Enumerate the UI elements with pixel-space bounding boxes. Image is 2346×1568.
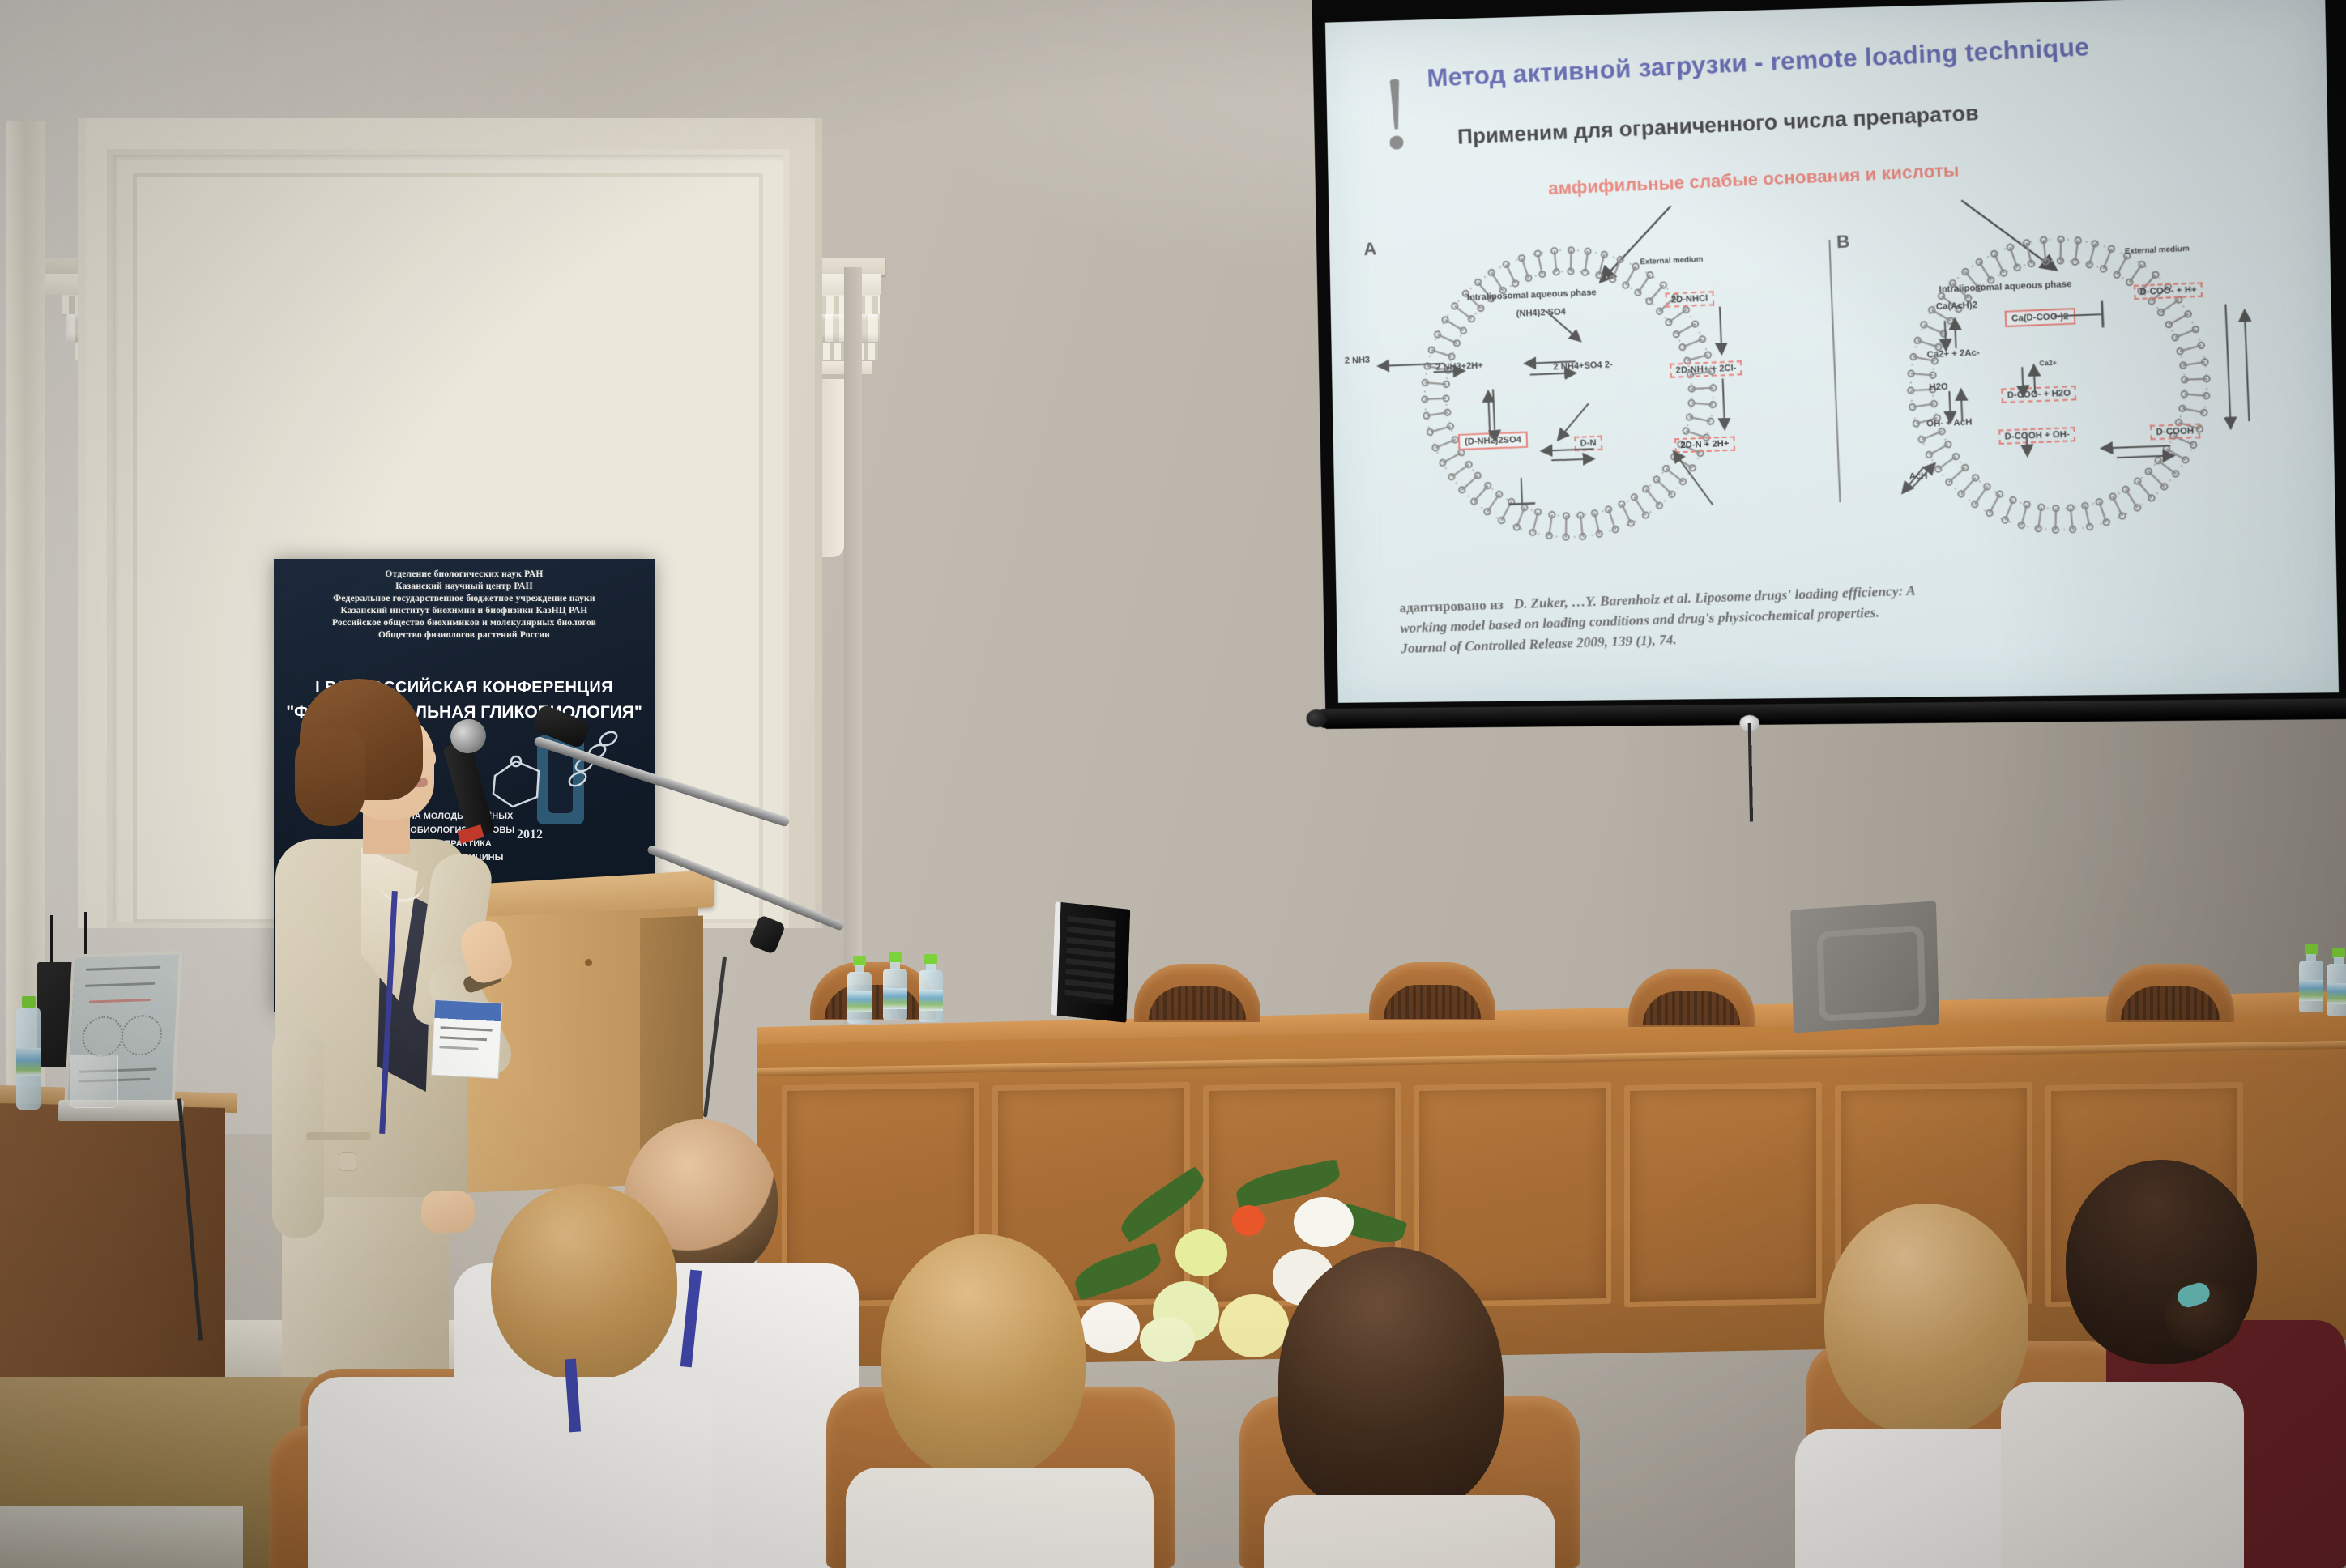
audience-head: [1824, 1204, 2028, 1435]
conference-name-badge: [431, 999, 503, 1079]
lecture-hall-photo: Отделение биологических наук РАН Казанск…: [0, 0, 2346, 1568]
transmitter-antenna: [50, 915, 53, 965]
water-bottle: [847, 956, 872, 1024]
bottle-cap: [22, 996, 36, 1008]
projected-slide-surface: Метод активной загрузки - remote loading…: [1325, 0, 2339, 703]
water-bottle: [15, 996, 42, 1110]
citation-prefix: адаптировано из: [1399, 597, 1504, 616]
floor-step: [0, 1506, 243, 1568]
banner-org-line-1: Отделение биологических наук РАН: [285, 569, 643, 581]
banner-org-line-5: Российское общество биохимиков и молекул…: [285, 617, 643, 629]
banner-org-line-3: Федеральное государственное бюджетное уч…: [285, 593, 643, 605]
projection-screen: Метод активной загрузки - remote loading…: [1312, 0, 2346, 745]
banner-org-line-6: Общество физиологов растений России: [285, 629, 643, 641]
audience-shirt: [308, 1377, 713, 1568]
slide-subtitle: Применим для ограниченного числа препара…: [1457, 87, 2247, 149]
audience-head: [1278, 1247, 1504, 1515]
dais-wood-panel: [1624, 1082, 1822, 1307]
speaker-hand-on-lectern: [421, 1191, 475, 1233]
lectern-screw: [585, 959, 592, 966]
audience-shirt: [2001, 1382, 2244, 1568]
panel-a-reaction-arrows: [1350, 224, 1839, 569]
exclamation-mark-icon: [1385, 79, 1406, 157]
audience-head: [881, 1234, 1086, 1477]
panel-b-reaction-arrows: [1843, 212, 2327, 560]
slide-citation: адаптировано из D. Zuker, …Y. Barenholz …: [1399, 568, 2290, 658]
water-bottle: [2299, 944, 2323, 1012]
speaker-jacket-button: [339, 1152, 356, 1171]
audience-shirt: [846, 1468, 1154, 1568]
presentation-slide: Метод активной загрузки - remote loading…: [1325, 0, 2339, 703]
screen-roller-knob: [1306, 709, 1327, 727]
slide-title: Метод активной загрузки - remote loading…: [1427, 23, 2267, 93]
speaker-hair-side: [295, 729, 365, 826]
speaker-jacket-pocket: [306, 1132, 371, 1140]
citation-line-3: Journal of Controlled Release 2009, 139 …: [1401, 632, 1677, 656]
grey-monitor-stand-emboss: [1817, 925, 1926, 1022]
drinking-glasses: [70, 1055, 118, 1108]
water-bottle: [2327, 948, 2346, 1016]
water-bottle: [883, 952, 907, 1020]
black-monitor-vents: [1064, 916, 1115, 1005]
banner-organizations: Отделение биологических наук РАН Казанск…: [285, 569, 643, 641]
banner-org-line-4: Казанский институт биохимии и биофизики …: [285, 605, 643, 617]
banner-org-line-2: Казанский научный центр РАН: [285, 581, 643, 593]
water-bottle: [919, 954, 943, 1022]
audience-shirt: [1264, 1495, 1555, 1568]
audience-head: [491, 1184, 677, 1380]
